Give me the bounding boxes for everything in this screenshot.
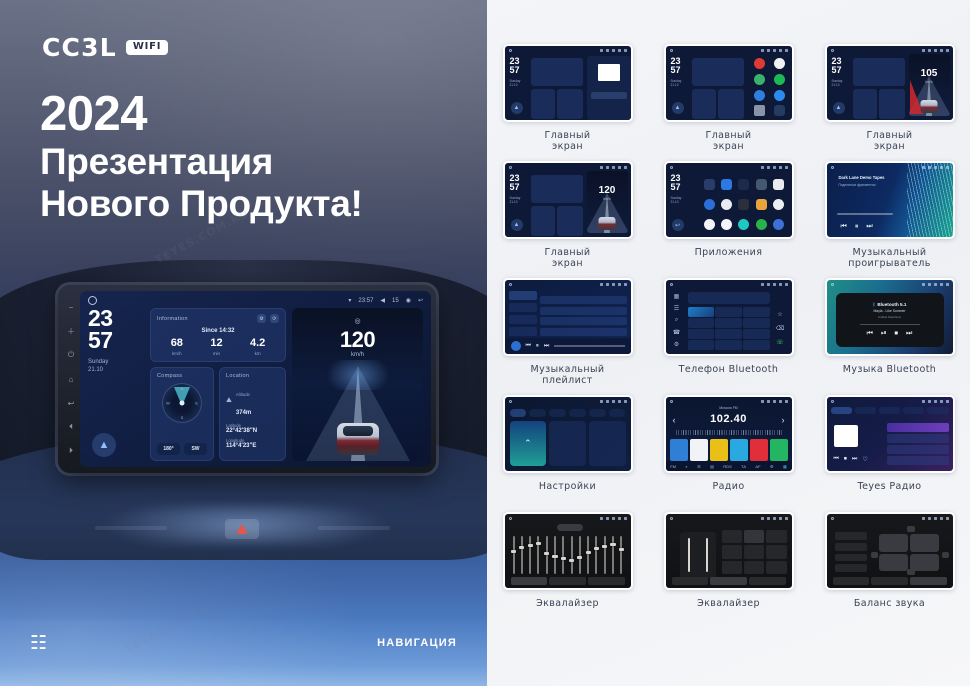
app-cell [704, 199, 715, 210]
tab-about[interactable] [609, 409, 626, 417]
thumb-status-bar [831, 516, 949, 521]
app-cell [738, 199, 749, 210]
grid-icon[interactable]: ▦ [783, 464, 787, 469]
info-card [531, 175, 583, 203]
app-cell [773, 219, 784, 230]
home-icon [831, 166, 835, 170]
mountain-icon: ⛰ [226, 397, 232, 405]
latitude-value: 22°42'38"N [226, 428, 279, 434]
key-hash[interactable] [743, 340, 769, 350]
thumb-clock-sub: Sunday21.10 [671, 79, 682, 88]
next-track-icon[interactable]: ⏭ [544, 343, 549, 350]
prev-track-icon[interactable]: ⏮ [841, 223, 847, 231]
eq-band[interactable] [604, 536, 606, 574]
next-track-icon[interactable]: ⏭ [852, 456, 857, 463]
bt-card: ᛒ Bluetooth 5.1 Mayla - Like Summer Cobb… [836, 293, 944, 347]
preset-front[interactable] [835, 532, 867, 540]
status-icons [761, 49, 788, 52]
track-list[interactable] [540, 296, 627, 337]
app-icon-blank [774, 105, 785, 116]
key-6[interactable] [743, 318, 769, 328]
preset-button[interactable] [722, 530, 742, 543]
speed-value: 120 [599, 185, 616, 196]
progress-bar[interactable] [860, 324, 920, 325]
call-log-icon[interactable]: ☎ [673, 329, 680, 336]
thumb-status-bar [509, 282, 627, 287]
album-art [511, 341, 521, 351]
head-unit: − ＋ ⏻ ⌂ ↩ ⏴ ⏵ ▾ 23:57 ◀ 15 [58, 285, 436, 473]
speed-unit: km/h [925, 80, 932, 84]
gallery-item[interactable]: Эквалайзер [487, 512, 648, 625]
power-key[interactable]: ⏻ [67, 351, 76, 360]
gallery-item[interactable]: 2357 Sunday21.10 ▲ 120 km/h Главныйэкран [487, 161, 648, 274]
thumb-status-bar [670, 48, 788, 53]
app-icon-maps [754, 74, 765, 85]
prev-station-icon[interactable]: ‹ [673, 415, 676, 425]
caption: Музыка Bluetooth [843, 365, 936, 391]
preset-rear[interactable] [835, 543, 867, 551]
info-card [853, 58, 905, 86]
caption: Эквалайзер [536, 599, 599, 625]
preset-button[interactable] [722, 561, 742, 574]
equalizer-tabs[interactable] [672, 577, 786, 585]
progress-bar[interactable] [837, 213, 893, 215]
caption: Телефон Bluetooth [679, 365, 779, 391]
balance-right-button[interactable] [942, 552, 949, 558]
gallery-item[interactable]: 2357 Sunday21.10 ▲ 105 km/h Глав [809, 44, 970, 157]
tab-live[interactable] [831, 407, 852, 414]
information-actions[interactable]: ⚙ ⟳ [257, 314, 279, 323]
af-icon[interactable]: AF [755, 464, 760, 469]
app-icon-clock [721, 199, 732, 210]
information-title: Information [157, 316, 188, 322]
key-4[interactable] [688, 318, 714, 328]
tab-balance[interactable] [588, 577, 625, 585]
logo-text: CC3L [42, 33, 117, 62]
key-1[interactable] [688, 307, 714, 317]
navigation-arrow-icon[interactable]: ▲ [92, 433, 116, 457]
eq-band[interactable] [529, 536, 531, 574]
playlist-sidebar[interactable] [509, 291, 537, 337]
preset-button[interactable] [722, 545, 742, 558]
compass-card [531, 206, 555, 236]
thumbnail-settings[interactable]: ⌃ [503, 395, 633, 473]
preset-buttons[interactable] [722, 530, 787, 574]
key-8[interactable] [715, 329, 741, 339]
next-track-icon[interactable]: ⏭ [866, 223, 872, 231]
tab-system[interactable] [589, 409, 606, 417]
eq-band[interactable] [612, 536, 614, 574]
gallery-item[interactable]: ⌃ Настройки [487, 395, 648, 508]
settings-gear-icon[interactable]: ⚙ [770, 464, 774, 469]
preset-list[interactable] [670, 439, 788, 461]
home-icon [831, 283, 835, 287]
head-unit-hard-keys[interactable]: − ＋ ⏻ ⌂ ↩ ⏴ ⏵ [63, 295, 79, 463]
tab-sound-field[interactable] [871, 577, 908, 585]
tab-sound-field[interactable] [549, 577, 586, 585]
fader-left[interactable] [688, 538, 690, 572]
track-row[interactable] [540, 328, 627, 336]
app-icon-spotify [774, 74, 785, 85]
thumb-status-bar [670, 165, 788, 170]
teyes-player[interactable]: ⏮ ⏹ ⏭ ♡ [832, 423, 884, 466]
thumb-clock-sub: Sunday21.10 [510, 196, 521, 205]
tab-balance[interactable] [749, 577, 786, 585]
sidebar-item-tracks[interactable] [509, 291, 537, 300]
app-icon-yandex [774, 58, 785, 69]
screens-gallery: 2357 Sunday21.10 ▲ Главныйэкран [487, 0, 970, 686]
settings-gear-icon[interactable]: ⚙ [674, 341, 679, 348]
app-shortcuts-panel [748, 55, 792, 121]
preset-button[interactable] [744, 530, 764, 543]
prev-track-icon[interactable]: ⏮ [834, 456, 839, 463]
thumbnail-balance[interactable] [825, 512, 955, 590]
compass-center [180, 401, 185, 406]
eq-band[interactable] [554, 536, 556, 574]
road-glow [313, 360, 403, 390]
status-icons [761, 166, 788, 169]
thumbnail-music-player[interactable]: Dark Lane Demo Tapes Поделиться фрагмент… [825, 161, 955, 239]
number-field[interactable] [688, 292, 770, 304]
status-icons [600, 166, 627, 169]
compass-widget[interactable]: Compass N E S W [150, 367, 214, 461]
frequency-dial[interactable] [676, 430, 782, 435]
eq-band[interactable] [571, 536, 573, 574]
gallery-item[interactable]: ▦ ☰ ⌕ ☎ ⚙ [648, 278, 809, 391]
station-row[interactable] [887, 445, 949, 454]
app-icon-filemanager [756, 199, 767, 210]
tab-equalizer[interactable] [511, 577, 548, 585]
speed-unit: km/h [351, 352, 364, 358]
tab-podcasts[interactable] [855, 407, 876, 414]
radio-frequency: 102.40 [666, 413, 792, 425]
gallery-item[interactable]: 2357 Sunday21.10 ↩ [648, 161, 809, 274]
caption: Главныйэкран [706, 131, 752, 157]
stop-icon[interactable]: ⏹ [895, 330, 899, 338]
eq-band[interactable] [620, 536, 622, 574]
back-key[interactable]: ↩ [67, 399, 76, 408]
balance-pad[interactable] [879, 534, 939, 571]
tab-balance[interactable] [910, 577, 947, 585]
tab-display[interactable] [549, 409, 566, 417]
thumbnail-bt-phone[interactable]: ▦ ☰ ⌕ ☎ ⚙ [664, 278, 794, 356]
fader-right[interactable] [706, 538, 708, 572]
media-controls[interactable]: ⏮ ⏹ ⏭ ♡ [834, 456, 868, 463]
tab-wifi[interactable] [510, 409, 527, 417]
list-icon[interactable]: ☰ [697, 464, 701, 469]
stat-unit: km [250, 351, 265, 356]
balance-left-button[interactable] [871, 552, 878, 558]
key-star[interactable] [688, 340, 714, 350]
volume-level: 15 [392, 298, 399, 304]
search-icon[interactable]: ⌕ [675, 317, 678, 324]
eq-band[interactable] [546, 536, 548, 574]
eq-band[interactable] [537, 536, 539, 574]
station-row[interactable] [887, 456, 949, 465]
home-icon [509, 166, 513, 170]
navigation-arrow-icon: ▲ [511, 219, 523, 231]
next-track-icon[interactable]: ⏭ [906, 330, 912, 338]
app-icon-keyboard [738, 179, 749, 190]
key-2[interactable] [715, 307, 741, 317]
phone-actions[interactable]: ☆ ⌫ ☏ [773, 307, 788, 350]
station-row[interactable] [887, 423, 949, 432]
balance-down-button[interactable] [907, 569, 915, 575]
refresh-icon[interactable]: ⟳ [270, 314, 279, 323]
eq-band[interactable] [595, 536, 597, 574]
pause-icon[interactable]: ⏸ [536, 343, 539, 350]
thumb-clock-sub: Sunday21.10 [832, 79, 843, 88]
track-row[interactable] [540, 307, 627, 315]
thumbnail-apps[interactable]: 2357 Sunday21.10 ↩ [664, 161, 794, 239]
app-cell [756, 179, 767, 190]
logo-wifi-badge: WIFI [126, 40, 169, 55]
thumb-clock: 2357 [510, 174, 520, 191]
driving-widget[interactable]: ◎ 120 km/h [292, 308, 423, 461]
key-9[interactable] [743, 329, 769, 339]
eq-band[interactable] [513, 536, 515, 574]
gallery-item[interactable]: Moscow FM 102.40 ‹ › FM [648, 395, 809, 508]
track-row[interactable] [540, 296, 627, 304]
tab-equalizer[interactable] [672, 577, 709, 585]
information-header: Information ⚙ ⟳ [157, 314, 279, 323]
eq-band[interactable] [587, 536, 589, 574]
lower-widgets-row: Compass N E S W [150, 367, 286, 461]
prev-track-icon[interactable]: ⏮ [867, 330, 873, 338]
tab-car[interactable] [569, 409, 586, 417]
progress-bar[interactable] [554, 345, 624, 346]
preset-button[interactable] [766, 545, 786, 558]
information-widget[interactable]: Information ⚙ ⟳ Since 14:32 68 [150, 308, 286, 362]
settings-gear-icon[interactable]: ⚙ [257, 314, 266, 323]
thumbnail-radio[interactable]: Moscow FM 102.40 ‹ › FM [664, 395, 794, 473]
band-button[interactable]: FM [670, 464, 676, 469]
status-icons [922, 400, 949, 403]
gallery-item[interactable]: Эквалайзер [648, 512, 809, 625]
latitude-row: Latitude 22°42'38"N [226, 423, 279, 434]
status-time: 23:57 [358, 298, 373, 304]
volume-down-key[interactable]: − [67, 303, 76, 312]
contacts-icon[interactable]: ☰ [674, 305, 679, 312]
gallery-item[interactable]: ⏮ ⏹ ⏭ ♡ Teyes Радио [809, 395, 970, 508]
preset-all[interactable] [835, 564, 867, 572]
thumb-status-bar [670, 516, 788, 521]
thumbnail-home-music[interactable]: 2357 Sunday21.10 ▲ [503, 44, 633, 122]
dial-keypad[interactable] [688, 307, 770, 350]
home-icon [670, 166, 674, 170]
phone-sidebar[interactable]: ▦ ☰ ⌕ ☎ ⚙ [670, 291, 684, 350]
back-icon[interactable]: ↩ [418, 297, 423, 304]
prev-track-icon[interactable]: ⏮ [526, 343, 531, 350]
location-widget[interactable]: Location ⛰ Altitude 374m [219, 367, 286, 461]
sidebar-item-albums[interactable] [509, 303, 537, 312]
tab-sound[interactable] [529, 409, 546, 417]
app-cell [721, 219, 732, 230]
preset-selector[interactable] [557, 524, 583, 531]
backspace-icon[interactable]: ⌫ [776, 325, 784, 332]
tab-equalizer[interactable] [833, 577, 870, 585]
preset-button[interactable] [744, 561, 764, 574]
visualizer-waves [907, 163, 953, 237]
media-controls[interactable]: ⏮ ⏯ ⏹ ⏭ [867, 330, 913, 338]
seat-front-right [910, 534, 939, 552]
status-bar-right: ▾ 23:57 ◀ 15 ◉ ↩ [348, 297, 423, 304]
card-more[interactable] [589, 421, 626, 466]
app-icon-play [774, 90, 785, 101]
preset-2[interactable] [690, 439, 708, 461]
pause-icon[interactable]: ⏸ [855, 223, 859, 231]
home-icon [670, 283, 674, 287]
home-icon [831, 517, 835, 521]
stop-icon[interactable]: ⏹ [844, 456, 847, 463]
radio-band: Moscow FM [666, 406, 792, 410]
sidebar-item-artists[interactable] [509, 315, 537, 324]
bt-version: Bluetooth 5.1 [877, 302, 906, 307]
preset-1[interactable] [670, 439, 688, 461]
thumbnail-bt-music[interactable]: ᛒ Bluetooth 5.1 Mayla - Like Summer Cobb… [825, 278, 955, 356]
status-icons [600, 283, 627, 286]
dialpad-icon[interactable]: ▦ [674, 293, 680, 300]
equalizer-sliders[interactable] [513, 532, 623, 574]
album-art [598, 64, 620, 81]
eq-band[interactable] [521, 536, 523, 574]
thumbnail-equalizer-2[interactable] [664, 512, 794, 590]
preset-button[interactable] [766, 530, 786, 543]
camera-icon[interactable]: ◉ [406, 297, 411, 304]
home-screen-body: 23 57 Sunday 21.10 ▲ Information [88, 308, 423, 461]
eq-band[interactable] [562, 536, 564, 574]
stat-unit: km/h [171, 351, 183, 356]
volume-up-key[interactable]: ＋ [67, 327, 76, 336]
compass-direction: SW [184, 443, 207, 455]
balance-presets[interactable] [835, 532, 867, 572]
preset-button[interactable] [744, 545, 764, 558]
fader-panel[interactable] [680, 532, 716, 578]
caption: Настройки [539, 482, 596, 508]
equalizer-tabs[interactable] [511, 577, 625, 585]
stat-item: 68 km/h [171, 338, 183, 356]
key-5[interactable] [715, 318, 741, 328]
head-unit-screen[interactable]: ▾ 23:57 ◀ 15 ◉ ↩ 23 57 Sun [80, 291, 431, 467]
settings-tabs[interactable] [510, 409, 626, 417]
play-pause-icon[interactable]: ⏯ [881, 330, 887, 338]
teyes-top-tabs[interactable] [831, 407, 949, 414]
favorite-star-icon[interactable]: ☆ [777, 311, 782, 318]
caption: Эквалайзер [697, 599, 760, 625]
information-stats: 68 km/h 12 min 4.2 km [157, 338, 279, 356]
gallery-item[interactable]: Баланс звука [809, 512, 970, 625]
card-hotspot[interactable] [549, 421, 586, 466]
app-cell [756, 219, 767, 230]
gallery-item[interactable]: 2357 Sunday21.10 ▲ Главныйэкран [487, 44, 648, 157]
stat-item: 12 min [210, 338, 222, 356]
next-track-key[interactable]: ⏵ [67, 447, 76, 456]
tab-genres[interactable] [903, 407, 924, 414]
thumbnail-home-apps[interactable]: 2357 Sunday21.10 ▲ [664, 44, 794, 122]
prev-track-key[interactable]: ⏴ [67, 423, 76, 432]
caption: Teyes Радио [858, 482, 922, 508]
eq-icon[interactable]: ▤ [710, 464, 714, 469]
eq-band[interactable] [579, 536, 581, 574]
preset-driver[interactable] [835, 554, 867, 562]
caption: Музыкальныйплейлист [531, 365, 605, 391]
caption: Главныйэкран [545, 131, 591, 157]
rds-icon[interactable]: RDS [723, 464, 731, 469]
clock-widget[interactable]: 23 57 Sunday 21.10 ▲ [88, 308, 144, 461]
thumbnail-equalizer[interactable] [503, 512, 633, 590]
key-3[interactable] [743, 307, 769, 317]
mini-player-bar[interactable]: ⏮ ⏸ ⏭ [505, 338, 631, 354]
gallery-item[interactable]: 2357 Sunday21.10 ▲ [648, 44, 809, 157]
station-list[interactable] [887, 423, 949, 466]
home-icon [831, 49, 835, 53]
tab-sound-field[interactable] [710, 577, 747, 585]
radio-toolbar[interactable]: FM ⌕ ☰ ▤ RDS TA AF ⚙ ▦ [666, 461, 792, 471]
preset-3[interactable] [710, 439, 728, 461]
home-icon [509, 283, 513, 287]
status-icons [761, 517, 788, 520]
thumb-status-bar [831, 48, 949, 53]
tab-favorites[interactable] [927, 407, 948, 414]
search-icon[interactable]: ⌕ [685, 464, 687, 469]
thumbnail-home-speed-red[interactable]: 2357 Sunday21.10 ▲ 105 km/h [825, 44, 955, 122]
thumbnail-playlist[interactable]: ⏮ ⏸ ⏭ [503, 278, 633, 356]
key-7[interactable] [688, 329, 714, 339]
status-icons [761, 283, 788, 286]
home-key[interactable]: ⌂ [67, 375, 76, 384]
driving-panel: 120 km/h [587, 171, 628, 233]
preset-6[interactable] [770, 439, 788, 461]
preset-button[interactable] [766, 561, 786, 574]
key-0[interactable] [715, 340, 741, 350]
track-row[interactable] [540, 317, 627, 325]
next-station-icon[interactable]: › [782, 415, 785, 425]
station-row[interactable] [887, 434, 949, 443]
app-cell [756, 199, 767, 210]
thumb-clock: 2357 [832, 57, 842, 74]
home-icon [670, 49, 674, 53]
call-icon[interactable]: ☏ [776, 339, 784, 346]
compass-card [692, 89, 716, 119]
gallery-item[interactable]: Dark Lane Demo Tapes Поделиться фрагмент… [809, 161, 970, 274]
settings-cards[interactable]: ⌃ [510, 421, 626, 466]
compass-title: Compass [157, 373, 207, 379]
thumbnail-teyes-radio[interactable]: ⏮ ⏹ ⏭ ♡ [825, 395, 955, 473]
location-card [557, 206, 583, 236]
app-cell [704, 179, 715, 190]
balance-up-button[interactable] [907, 526, 915, 532]
media-controls[interactable]: ⏮ ⏸ ⏭ [841, 223, 873, 231]
preset-5[interactable] [750, 439, 768, 461]
home-icon [509, 400, 513, 404]
now-playing-title: Dark Lane Demo Tapes [839, 175, 885, 180]
sidebar-item-folders[interactable] [509, 327, 537, 336]
favorite-heart-icon[interactable]: ♡ [862, 456, 867, 463]
gallery-item[interactable]: ᛒ Bluetooth 5.1 Mayla - Like Summer Cobb… [809, 278, 970, 391]
hazard-triangle-icon [236, 524, 248, 534]
ta-icon[interactable]: TA [741, 464, 746, 469]
compass-s: S [181, 415, 184, 420]
caption: Главныйэкран [545, 248, 591, 274]
card-wifi[interactable]: ⌃ [510, 421, 547, 466]
thumbnail-home-speed[interactable]: 2357 Sunday21.10 ▲ 120 km/h [503, 161, 633, 239]
equalizer-tabs[interactable] [833, 577, 947, 585]
gallery-item[interactable]: ⏮ ⏸ ⏭ Музыкальныйплейлист [487, 278, 648, 391]
home-icon[interactable] [88, 296, 97, 305]
tab-music[interactable] [879, 407, 900, 414]
car-rear-illustration [921, 100, 938, 113]
preset-4[interactable] [730, 439, 748, 461]
